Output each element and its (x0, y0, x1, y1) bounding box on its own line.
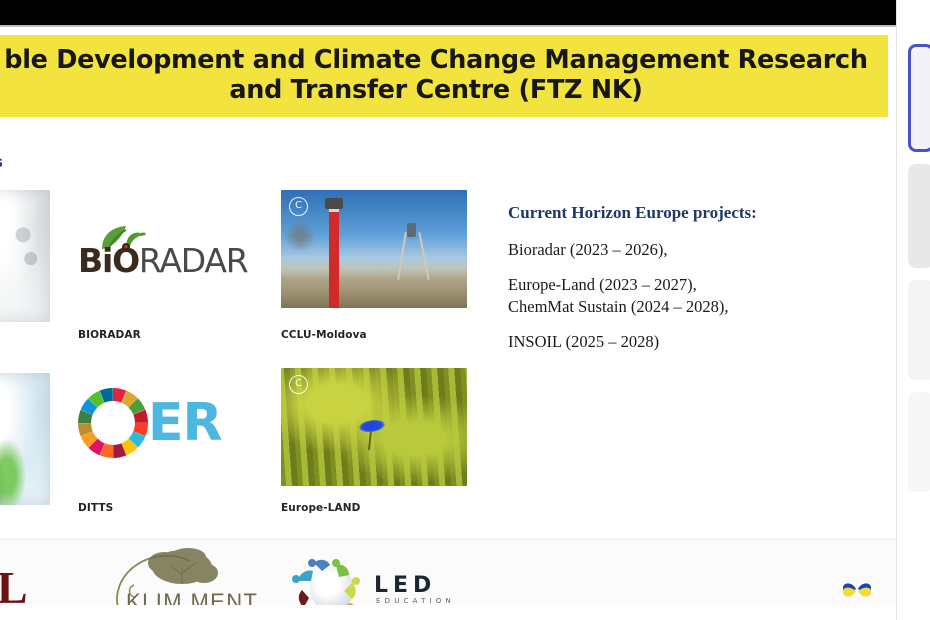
participant-tile-4[interactable] (908, 392, 930, 492)
lab-photo-top (0, 190, 50, 322)
tripod-leg-right (418, 232, 429, 279)
survey-pole-head (325, 198, 343, 209)
kliment-logo: KLIM MENT Klimawandel und mentale Gesund… (108, 545, 256, 605)
bioradar-logo: BiORADAR (78, 223, 258, 285)
led-education-logo: LED EDUCATION (282, 553, 452, 605)
screen-root: ble Development and Climate Change Manag… (0, 0, 930, 620)
led-subtitle: EDUCATION (376, 597, 455, 605)
cornflower (358, 418, 385, 434)
sdg-colour-wheel-icon (78, 388, 148, 458)
project-label-bioradar: BIORADAR (78, 329, 141, 341)
bioradar-word-part1: BiO (78, 241, 139, 280)
horizon-project-line-4: INSOIL (2025 – 2028) (508, 332, 838, 352)
kliment-wordmark: KLIM MENT (126, 589, 258, 605)
horizon-project-line-1: Bioradar (2023 – 2026), (508, 240, 838, 260)
tree-silhouette (283, 216, 317, 256)
project-label-europe-land: Europe-LAND (281, 502, 360, 514)
photo-ground (281, 276, 467, 308)
presentation-slide: ble Development and Climate Change Manag… (0, 27, 896, 605)
sidebar-divider (896, 0, 897, 620)
participant-tile-active-speaker[interactable] (908, 44, 930, 152)
il-logo: IL (0, 561, 29, 605)
led-wordmark: LED (374, 573, 436, 598)
tripod-instrument (407, 223, 416, 237)
project-label-cclu-moldova: CCLU-Moldova (281, 329, 367, 341)
bioradar-word-part2: RADAR (139, 241, 248, 280)
oer-wordmark: ER (148, 393, 222, 453)
survey-pole (329, 204, 339, 308)
shared-screen-region[interactable]: ble Development and Climate Change Manag… (0, 0, 896, 620)
participant-sidebar[interactable] (896, 0, 930, 620)
cclu-moldova-photo: C (281, 190, 467, 308)
participant-tile-2[interactable] (908, 164, 930, 268)
letterbox-bar-top (0, 0, 896, 25)
four-heart-clover-logo (838, 571, 876, 605)
horizon-projects-text-block: Current Horizon Europe projects: Biorada… (508, 203, 838, 367)
strip-divider (0, 539, 896, 540)
horizon-project-line-3: ChemMat Sustain (2024 – 2028), (508, 297, 838, 317)
participant-tile-3[interactable] (908, 280, 930, 380)
tripod-leg-left (397, 232, 406, 280)
europe-land-photo: C (281, 368, 467, 486)
horizon-project-line-2: Europe-Land (2023 – 2027), (508, 275, 838, 295)
people-circle-icon (284, 555, 374, 605)
oer-logo: ER (78, 387, 260, 459)
slide-title-text: ble Development and Climate Change Manag… (0, 46, 886, 105)
slide-title-banner: ble Development and Climate Change Manag… (0, 35, 888, 117)
flower-stem (368, 430, 372, 450)
slide-subheading: s (0, 153, 3, 171)
bioradar-wordmark: BiORADAR (78, 241, 247, 280)
project-label-ditts: DITTS (78, 502, 113, 514)
horizon-projects-heading: Current Horizon Europe projects: (508, 203, 838, 223)
copyright-icon: C (289, 375, 308, 394)
copyright-icon: C (289, 197, 308, 216)
lab-photo-bottom (0, 373, 50, 505)
